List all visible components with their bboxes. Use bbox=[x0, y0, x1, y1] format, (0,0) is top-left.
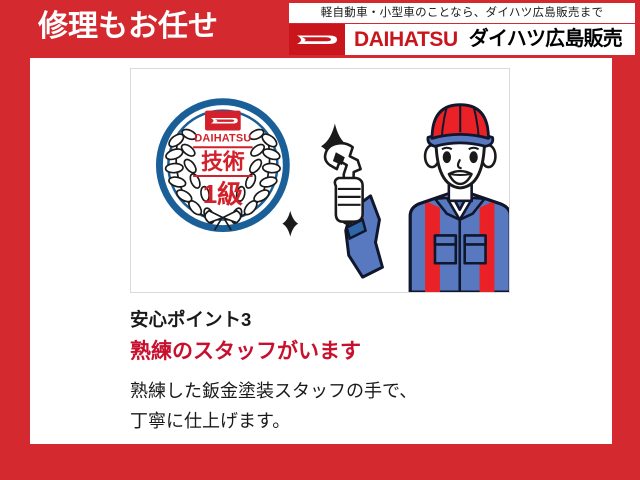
point-body-line-2: 丁寧に仕上げます。 bbox=[130, 406, 570, 436]
badge-line2: 1級 bbox=[203, 179, 243, 209]
point-body-line-1: 熟練した鈑金塗装スタッフの手で、 bbox=[130, 376, 570, 406]
mechanic-character bbox=[325, 105, 509, 292]
brand-dealer-name: ダイハツ広島販売 bbox=[469, 24, 622, 55]
badge-brand-text: DAIHATSU bbox=[194, 132, 251, 144]
sparkle-icon-small bbox=[282, 211, 298, 237]
brand-wordmark: DAIHATSU bbox=[354, 24, 458, 55]
content-card: DAIHATSU 技術 1級 bbox=[30, 58, 612, 444]
promo-banner: 修理もお任せ 軽自動車・小型車のことなら、ダイハツ広島販売まで DAIHATSU… bbox=[0, 0, 640, 480]
content-text-block: 安心ポイント3 熟練のスタッフがいます 熟練した鈑金塗装スタッフの手で、 丁寧に… bbox=[130, 306, 570, 436]
certification-badge: DAIHATSU 技術 1級 bbox=[159, 102, 286, 230]
badge-daihatsu-emblem-icon bbox=[205, 111, 241, 131]
brand-logo-bar: DAIHATSU ダイハツ広島販売 bbox=[289, 24, 635, 55]
page-title: 修理もお任せ bbox=[38, 7, 218, 47]
mechanic-illustration: DAIHATSU 技術 1級 bbox=[131, 69, 509, 292]
point-body: 熟練した鈑金塗装スタッフの手で、 丁寧に仕上げます。 bbox=[130, 376, 570, 436]
badge-line1: 技術 bbox=[201, 149, 245, 174]
header-bar: 修理もお任せ 軽自動車・小型車のことなら、ダイハツ広島販売まで DAIHATSU… bbox=[0, 0, 640, 58]
point-headline: 熟練のスタッフがいます bbox=[130, 336, 570, 367]
illustration-frame: DAIHATSU 技術 1級 bbox=[130, 68, 510, 293]
hand bbox=[335, 178, 363, 222]
brand-tagline: 軽自動車・小型車のことなら、ダイハツ広島販売まで bbox=[289, 3, 635, 23]
daihatsu-d-emblem-icon bbox=[289, 24, 345, 55]
brand-block: 軽自動車・小型車のことなら、ダイハツ広島販売まで DAIHATSU ダイハツ広島… bbox=[287, 3, 635, 55]
point-label: 安心ポイント3 bbox=[130, 306, 570, 334]
